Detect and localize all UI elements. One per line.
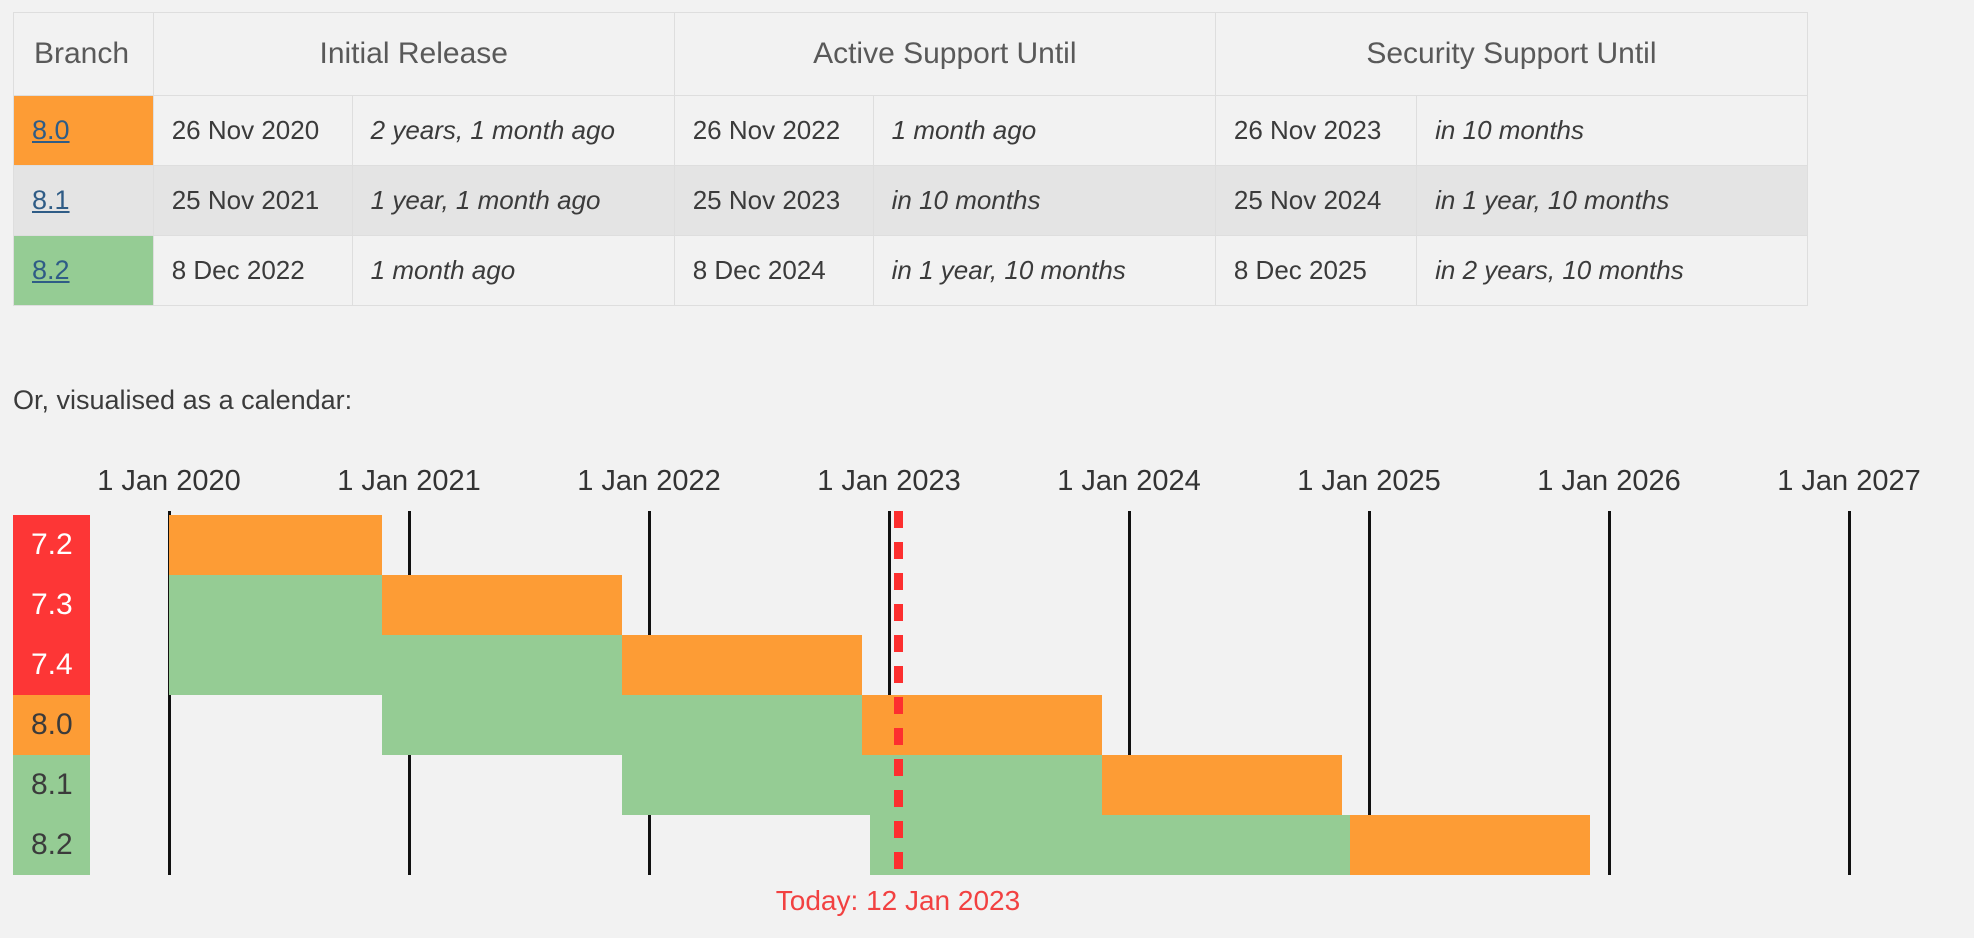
calendar-bar-7-2-active — [169, 515, 382, 575]
branch-cell: 8.0 — [14, 96, 154, 166]
active-support-date: 26 Nov 2022 — [674, 96, 873, 166]
eol-table-container: Branch Initial Release Active Support Un… — [13, 12, 1808, 306]
branch-support-table: Branch Initial Release Active Support Un… — [13, 12, 1808, 306]
calendar-bar-8-2-security — [870, 815, 1350, 875]
table-header-row: Branch Initial Release Active Support Un… — [14, 13, 1808, 96]
initial-release-relative: 2 years, 1 month ago — [352, 96, 674, 166]
initial-release-relative: 1 month ago — [352, 236, 674, 306]
branch-cell: 8.2 — [14, 236, 154, 306]
x-tick-label: 1 Jan 2026 — [1537, 465, 1681, 498]
active-support-relative: in 10 months — [873, 166, 1215, 236]
x-tick-label: 1 Jan 2022 — [577, 465, 721, 498]
branch-link-8-0[interactable]: 8.0 — [32, 115, 70, 145]
calendar-bar-7-3-active — [382, 575, 622, 635]
calendar-caption: Or, visualised as a calendar: — [13, 385, 352, 416]
column-header-security-support-until: Security Support Until — [1215, 13, 1807, 96]
column-header-initial-release: Initial Release — [153, 13, 674, 96]
branch-cell: 8.1 — [14, 166, 154, 236]
x-tick-label: 1 Jan 2020 — [97, 465, 241, 498]
table-row: 8.0 26 Nov 2020 2 years, 1 month ago 26 … — [14, 96, 1808, 166]
security-support-relative: in 10 months — [1417, 96, 1808, 166]
security-support-relative: in 1 year, 10 months — [1417, 166, 1808, 236]
calendar-chart: 7.27.37.48.08.18.2 1 Jan 20201 Jan 20211… — [0, 460, 1974, 938]
table-body: 8.0 26 Nov 2020 2 years, 1 month ago 26 … — [14, 96, 1808, 306]
x-tick-label: 1 Jan 2027 — [1777, 465, 1921, 498]
branch-link-8-2[interactable]: 8.2 — [32, 255, 70, 285]
column-header-branch: Branch — [14, 13, 154, 96]
calendar-plot-area: 1 Jan 20201 Jan 20211 Jan 20221 Jan 2023… — [0, 460, 1974, 938]
security-support-date: 25 Nov 2024 — [1215, 166, 1416, 236]
calendar-bar-7-4-security — [169, 635, 622, 695]
initial-release-date: 25 Nov 2021 — [153, 166, 352, 236]
x-tick-label: 1 Jan 2024 — [1057, 465, 1201, 498]
today-line — [894, 511, 903, 875]
initial-release-date: 8 Dec 2022 — [153, 236, 352, 306]
initial-release-relative: 1 year, 1 month ago — [352, 166, 674, 236]
x-tick-label: 1 Jan 2021 — [337, 465, 481, 498]
x-tick-label: 1 Jan 2025 — [1297, 465, 1441, 498]
initial-release-date: 26 Nov 2020 — [153, 96, 352, 166]
security-support-date: 26 Nov 2023 — [1215, 96, 1416, 166]
gridline — [1848, 511, 1851, 875]
table-row: 8.1 25 Nov 2021 1 year, 1 month ago 25 N… — [14, 166, 1808, 236]
active-support-relative: in 1 year, 10 months — [873, 236, 1215, 306]
calendar-bar-7-3-security — [169, 575, 382, 635]
calendar-bar-7-4-active — [622, 635, 862, 695]
table-row: 8.2 8 Dec 2022 1 month ago 8 Dec 2024 in… — [14, 236, 1808, 306]
calendar-bar-8-0-security — [382, 695, 862, 755]
calendar-bar-8-1-security — [622, 755, 1102, 815]
calendar-bar-8-2-active — [1350, 815, 1590, 875]
today-label: Today: 12 Jan 2023 — [776, 885, 1020, 917]
active-support-date: 25 Nov 2023 — [674, 166, 873, 236]
gridline — [1608, 511, 1611, 875]
table-head: Branch Initial Release Active Support Un… — [14, 13, 1808, 96]
column-header-active-support-until: Active Support Until — [674, 13, 1215, 96]
active-support-date: 8 Dec 2024 — [674, 236, 873, 306]
security-support-date: 8 Dec 2025 — [1215, 236, 1416, 306]
security-support-relative: in 2 years, 10 months — [1417, 236, 1808, 306]
x-tick-label: 1 Jan 2023 — [817, 465, 961, 498]
calendar-bar-8-1-active — [1102, 755, 1342, 815]
active-support-relative: 1 month ago — [873, 96, 1215, 166]
branch-link-8-1[interactable]: 8.1 — [32, 185, 70, 215]
